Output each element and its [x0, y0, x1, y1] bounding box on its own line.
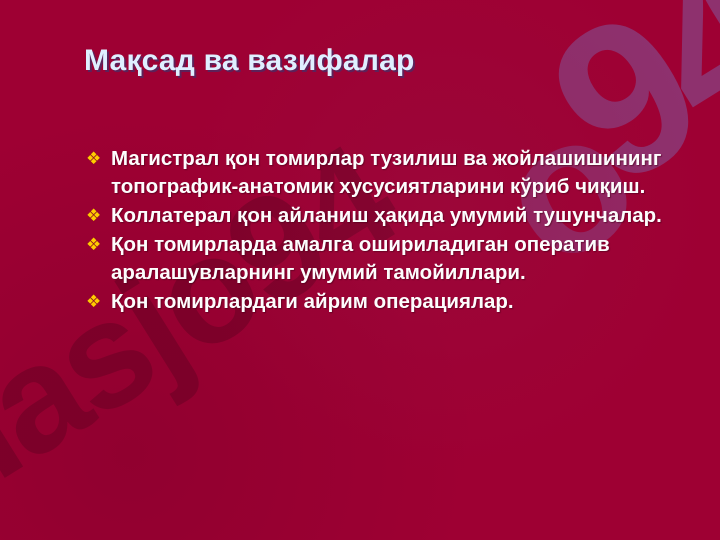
- presentation-slide: 94 о Hasjo94 Мақсад ва вазифалар ❖ Магис…: [0, 0, 720, 540]
- diamond-bullet-icon: ❖: [86, 202, 108, 230]
- slide-content: Мақсад ва вазифалар ❖ Магистрал қон томи…: [0, 0, 720, 540]
- list-item-label: Коллатерал қон айланиш ҳақида умумий туш…: [111, 202, 676, 230]
- list-item: ❖ Қон томирларда амалга ошириладиган опе…: [86, 231, 676, 287]
- diamond-bullet-icon: ❖: [86, 288, 108, 316]
- list-item: ❖ Қон томирлардаги айрим операциялар.: [86, 288, 676, 316]
- list-item-label: Қон томирларда амалга ошириладиган опера…: [111, 231, 676, 287]
- slide-title: Мақсад ва вазифалар: [84, 44, 415, 78]
- diamond-bullet-icon: ❖: [86, 145, 108, 173]
- list-item-label: Қон томирлардаги айрим операциялар.: [111, 288, 676, 316]
- diamond-bullet-icon: ❖: [86, 231, 108, 259]
- list-item: ❖ Магистрал қон томирлар тузилиш ва жойл…: [86, 145, 676, 201]
- bullet-list: ❖ Магистрал қон томирлар тузилиш ва жойл…: [86, 145, 676, 317]
- list-item: ❖ Коллатерал қон айланиш ҳақида умумий т…: [86, 202, 676, 230]
- list-item-label: Магистрал қон томирлар тузилиш ва жойлаш…: [111, 145, 676, 201]
